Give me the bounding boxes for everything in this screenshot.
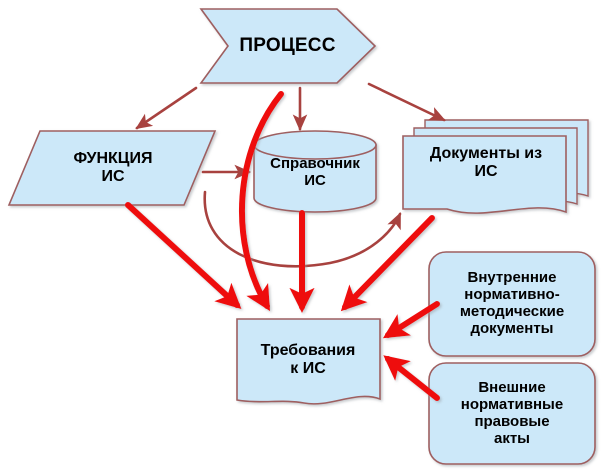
edge-process-to-documents — [369, 84, 444, 120]
node-shape-reference[interactable] — [254, 131, 376, 212]
edge-process-to-function — [137, 88, 196, 128]
edge-function-to-requirements — [128, 205, 237, 305]
node-shape-documents[interactable] — [403, 120, 588, 213]
node-shape-process[interactable] — [201, 9, 375, 83]
node-shape-internal[interactable] — [429, 252, 595, 356]
node-shape-function[interactable] — [9, 131, 215, 205]
diagram-svg — [0, 0, 605, 470]
node-shape-external[interactable] — [429, 363, 595, 464]
node-shape-requirements[interactable] — [237, 319, 380, 404]
diagram-canvas: ПРОЦЕСС ФУНКЦИЯ ИС Справочник ИС Докумен… — [0, 0, 605, 470]
